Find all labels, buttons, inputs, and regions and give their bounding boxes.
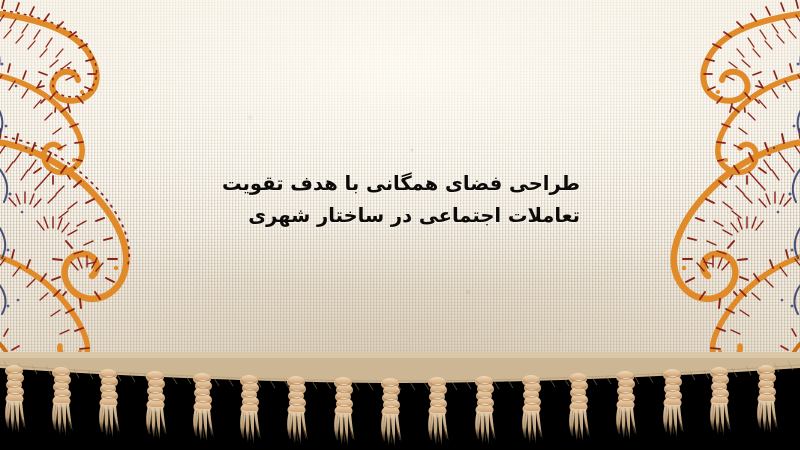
- knotted-tassel-fringe: [0, 352, 800, 450]
- slide-title-line-2: تعاملات اجتماعی در ساختار شهری: [150, 200, 580, 232]
- slide-canvas: طراحی فضای همگانی با هدف تقویت تعاملات ا…: [0, 0, 800, 450]
- slide-title: طراحی فضای همگانی با هدف تقویت تعاملات ا…: [150, 168, 580, 232]
- slide-title-line-1: طراحی فضای همگانی با هدف تقویت: [150, 168, 580, 200]
